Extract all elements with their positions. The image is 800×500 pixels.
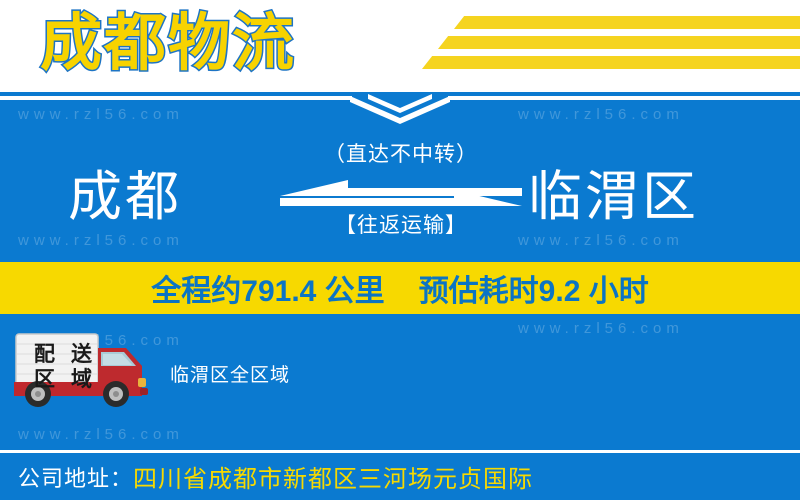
metrics-band: 全程约791.4 公里 预估耗时9.2 小时 xyxy=(0,262,800,314)
destination-city: 临渭区 xyxy=(528,164,699,230)
delivery-row: 配 送 区 域 临渭区全区域 xyxy=(0,324,800,414)
truck-box-label: 配 送 区 域 xyxy=(26,342,100,392)
delivery-truck-icon: 配 送 区 域 xyxy=(8,330,156,408)
bidirectional-arrow-icon xyxy=(276,176,526,210)
address-label: 公司地址： xyxy=(18,461,133,493)
company-address: 四川省成都市新都区三河场元贞国际 xyxy=(133,459,533,494)
route-row: 成都 （直达不中转） 【往返运输】 临渭区 xyxy=(0,140,800,262)
banner-footer: 公司地址： 四川省成都市新都区三河场元贞国际 xyxy=(0,453,800,500)
truck-box-char: 区 xyxy=(34,368,55,392)
brand-title: 成都物流 xyxy=(40,6,296,82)
distance-metric: 全程约791.4 公里 xyxy=(151,266,384,310)
decorative-stripes xyxy=(420,14,800,72)
truck-box-char: 域 xyxy=(71,368,92,392)
coverage-label: 临渭区全区域 xyxy=(170,360,290,387)
double-chevron-down-icon xyxy=(348,94,452,124)
truck-box-char: 配 xyxy=(34,343,55,367)
truck-box-char: 送 xyxy=(71,343,92,367)
origin-city: 成都 xyxy=(68,164,182,230)
banner-header: 成都物流 xyxy=(0,0,800,92)
stripe-3 xyxy=(422,56,800,69)
divider-line-left xyxy=(0,96,352,100)
direct-note: （直达不中转） xyxy=(256,140,546,170)
stripe-2 xyxy=(438,36,800,49)
banner-body: www.rzl56.com www.rzl56.com www.rzl56.co… xyxy=(0,92,800,500)
chevron-divider xyxy=(0,96,800,126)
duration-metric: 预估耗时9.2 小时 xyxy=(419,266,649,310)
stripe-1 xyxy=(454,16,800,29)
route-middle: （直达不中转） 【往返运输】 xyxy=(256,140,546,262)
watermark: www.rzl56.com xyxy=(18,426,184,443)
logistics-banner: 成都物流 www.rzl56.com www.rzl56.com www.rzl… xyxy=(0,0,800,500)
divider-line-right xyxy=(448,96,800,100)
roundtrip-note: 【往返运输】 xyxy=(256,212,546,240)
